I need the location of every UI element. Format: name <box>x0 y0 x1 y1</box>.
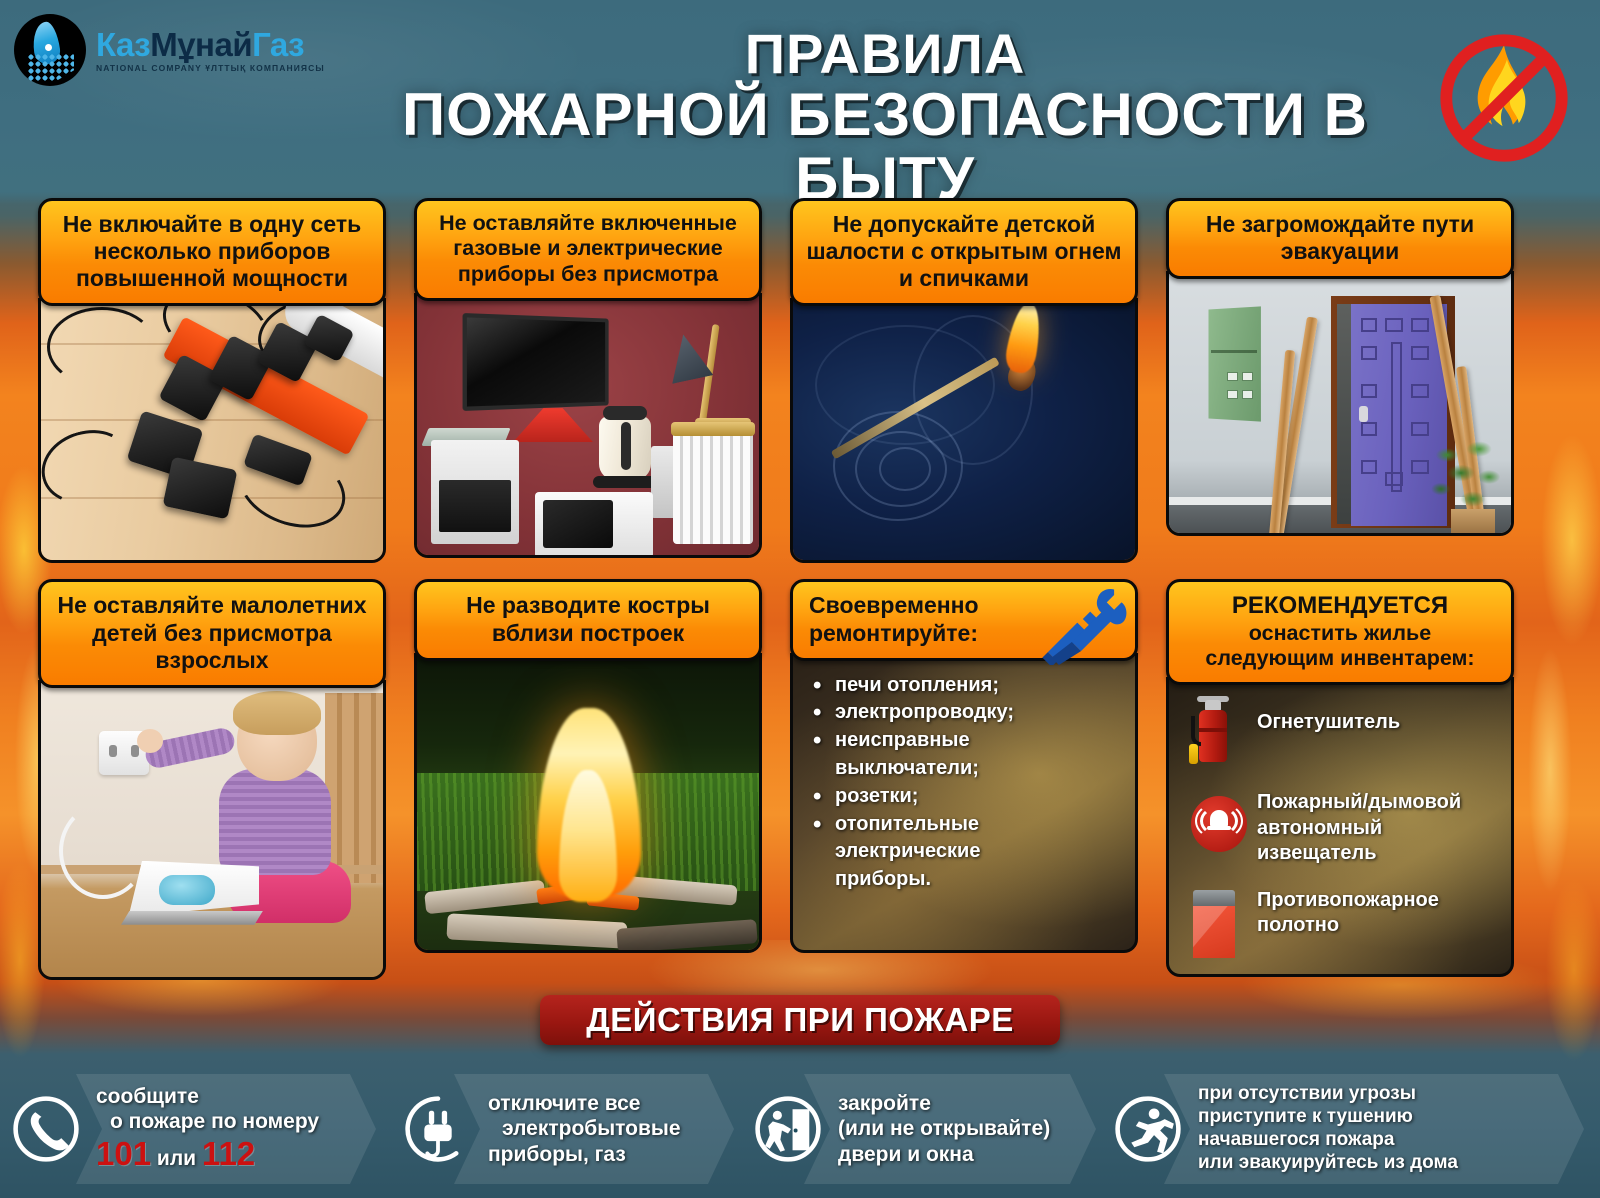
inventory-item-label: Противопожарное полотно <box>1257 882 1503 938</box>
repair-card-title: Своевременно ремонтируйте: <box>809 592 979 645</box>
rules-row-2: Не оставляйте малолетних детей без присм… <box>38 579 1562 979</box>
footer-step-close-doors: закройте (или не открывайте) двери и окн… <box>742 1070 1102 1188</box>
repair-item: розетки; <box>807 783 1125 810</box>
rule-card-image-bonfire <box>414 653 762 953</box>
inventory-card-body: Огнетушитель Пожарный/дымовой автономный… <box>1166 677 1514 977</box>
actions-banner: ДЕЙСТВИЯ ПРИ ПОЖАРЕ <box>540 995 1060 1045</box>
footer-line: (или не открывайте) <box>838 1116 1050 1141</box>
company-logo: КазМұнайГаз NATIONAL COMPANY ҰЛТТЫҚ КОМП… <box>14 14 325 86</box>
rule-card-image-burning-match <box>790 298 1138 563</box>
repair-card-body: печи отопления; электропроводку; неиспра… <box>790 653 1138 953</box>
rule-card-title: Не разводите костры вблизи построек <box>414 579 762 660</box>
footer-line: отключите все <box>488 1091 681 1116</box>
running-person-evacuation-icon <box>1110 1091 1186 1167</box>
close-door-icon <box>750 1091 826 1167</box>
repair-item: печи отопления; <box>807 672 1125 699</box>
footer-step-close-doors-text: закройте (или не открывайте) двери и окн… <box>838 1091 1050 1167</box>
inventory-title-line-1: РЕКОМЕНДУЕТСЯ <box>1177 592 1503 620</box>
repair-item: отопительные <box>807 811 1125 838</box>
footer-line: закройте <box>838 1091 1050 1116</box>
rule-card-title: Не загромождайте пути эвакуации <box>1166 198 1514 279</box>
footer-step-call-text: сообщите о пожаре по номеру 101 или 112 <box>96 1084 319 1174</box>
rule-card-unattended-appliances: Не оставляйте включенные газовые и элект… <box>414 198 762 563</box>
logo-name-part1: Каз <box>96 26 150 63</box>
poster-header: КазМұнайГаз NATIONAL COMPANY ҰЛТТЫҚ КОМП… <box>0 0 1600 195</box>
footer-step-call: сообщите о пожаре по номеру 101 или 112 <box>0 1070 392 1188</box>
footer-line: двери и окна <box>838 1142 1050 1167</box>
rule-card-timely-repair: Своевременно ремонтируйте: печи отоп <box>790 579 1138 979</box>
footer-line: приступите к тушению <box>1198 1106 1458 1129</box>
rule-card-bonfires: Не разводите костры вблизи построек <box>414 579 762 979</box>
rule-card-image-overloaded-power-strip <box>38 298 386 563</box>
fire-extinguisher-icon <box>1179 694 1247 772</box>
rule-card-image-toddler-with-iron <box>38 680 386 980</box>
footer-step-unplug-text: отключите все электробытовые приборы, га… <box>488 1091 681 1167</box>
page-title: ПРАВИЛА ПОЖАРНОЙ БЕЗОПАСНОСТИ В БЫТУ <box>380 24 1390 211</box>
fire-blanket-icon <box>1179 882 1247 960</box>
logo-wordmark: КазМұнайГаз <box>96 28 325 61</box>
inventory-item: Огнетушитель <box>1169 694 1511 772</box>
emergency-number-101: 101 <box>96 1135 151 1172</box>
footer-line: начавшегося пожара <box>1198 1129 1458 1152</box>
rules-row-1: Не включайте в одну сеть несколько прибо… <box>38 198 1562 563</box>
emergency-number-separator: или <box>157 1147 196 1170</box>
tools-wrench-screwdriver-icon <box>1035 584 1127 664</box>
footer-line: о пожаре по номеру <box>96 1109 319 1134</box>
rule-card-title: Не допускайте детской шалости с открытым… <box>790 198 1138 306</box>
footer-line: электробытовые <box>488 1116 681 1141</box>
fire-safety-poster: КазМұнайГаз NATIONAL COMPANY ҰЛТТЫҚ КОМП… <box>0 0 1600 1198</box>
repair-item-continued: электрические <box>807 838 1125 865</box>
footer-line: сообщите <box>96 1084 319 1109</box>
rules-grid: Не включайте в одну сеть несколько прибо… <box>38 198 1562 980</box>
logo-subtitle: NATIONAL COMPANY ҰЛТТЫҚ КОМПАНИЯСЫ <box>96 64 325 73</box>
rule-card-title: Не оставляйте включенные газовые и элект… <box>414 198 762 301</box>
no-fire-prohibition-icon <box>1430 24 1578 172</box>
inventory-item: Противопожарное полотно <box>1169 882 1511 960</box>
power-plug-icon <box>400 1091 476 1167</box>
inventory-title-line-2: оснастить жилье <box>1177 621 1503 646</box>
repair-item: электропроводку; <box>807 699 1125 726</box>
inventory-item: Пожарный/дымовой автономный извещатель <box>1169 786 1511 866</box>
repair-item: неисправные <box>807 727 1125 754</box>
phone-call-icon <box>8 1091 84 1167</box>
footer-line: приборы, газ <box>488 1142 681 1167</box>
inventory-card-header: РЕКОМЕНДУЕТСЯ оснастить жилье следующим … <box>1166 579 1514 685</box>
repair-card-header: Своевременно ремонтируйте: <box>790 579 1138 660</box>
rule-card-image-blocked-door <box>1166 271 1514 536</box>
poster-footer: сообщите о пожаре по номеру 101 или 112 <box>0 1060 1600 1198</box>
kazmunaygas-flame-logo-icon <box>14 14 86 86</box>
rule-card-recommended-inventory: РЕКОМЕНДУЕТСЯ оснастить жилье следующим … <box>1166 579 1514 979</box>
rule-card-children-unattended: Не оставляйте малолетних детей без присм… <box>38 579 386 979</box>
repair-item-continued: выключатели; <box>807 755 1125 782</box>
rule-card-image-household-appliances <box>414 293 762 558</box>
rule-card-title: Не включайте в одну сеть несколько прибо… <box>38 198 386 306</box>
smoke-detector-alarm-icon <box>1179 786 1247 864</box>
repair-items-list: печи отопления; электропроводку; неиспра… <box>793 656 1135 893</box>
footer-step-unplug: отключите все электробытовые приборы, га… <box>392 1070 742 1188</box>
rule-card-evacuation-routes: Не загромождайте пути эвакуации <box>1166 198 1514 563</box>
actions-banner-label: ДЕЙСТВИЯ ПРИ ПОЖАРЕ <box>586 1001 1014 1039</box>
rule-card-children-matches: Не допускайте детской шалости с открытым… <box>790 198 1138 563</box>
logo-name-part3: Газ <box>252 26 304 63</box>
footer-step-extinguish-text: при отсутствии угрозы приступите к тушен… <box>1198 1083 1458 1174</box>
rule-card-overloaded-socket: Не включайте в одну сеть несколько прибо… <box>38 198 386 563</box>
repair-item-continued: приборы. <box>807 866 1125 893</box>
inventory-item-label: Огнетушитель <box>1257 694 1400 735</box>
emergency-numbers: 101 или 112 <box>96 1134 319 1174</box>
logo-name-part2: Мұнай <box>150 26 252 63</box>
title-line-1: ПРАВИЛА <box>380 24 1390 83</box>
title-line-2: ПОЖАРНОЙ БЕЗОПАСНОСТИ В БЫТУ <box>380 83 1390 210</box>
inventory-item-label: Пожарный/дымовой автономный извещатель <box>1257 786 1503 866</box>
footer-line: при отсутствии угрозы <box>1198 1083 1458 1106</box>
footer-line: или эвакуируйтесь из дома <box>1198 1152 1458 1175</box>
inventory-title-line-3: следующим инвентарем: <box>1177 646 1503 671</box>
rule-card-title: Не оставляйте малолетних детей без присм… <box>38 579 386 687</box>
emergency-number-112: 112 <box>202 1135 255 1172</box>
footer-step-extinguish-or-evacuate: при отсутствии угрозы приступите к тушен… <box>1102 1070 1600 1188</box>
